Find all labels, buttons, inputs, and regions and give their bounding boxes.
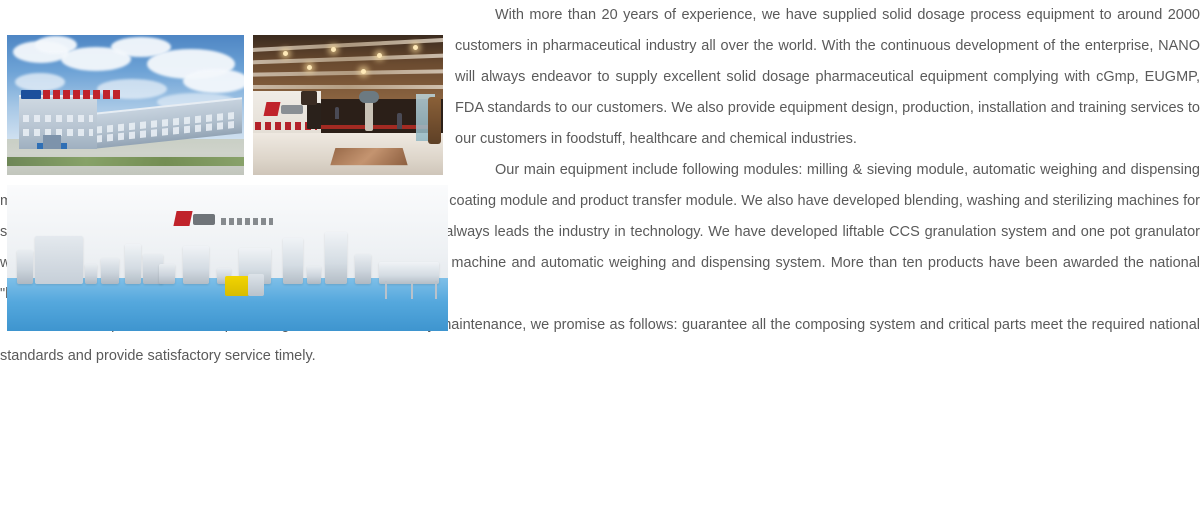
image-gallery: [0, 0, 455, 175]
machine-unit: [35, 236, 83, 284]
factory-main-block: [19, 95, 97, 149]
transfer-cart: [248, 274, 264, 296]
equipment-showroom-photo[interactable]: [7, 185, 448, 331]
entrance-awning: [37, 143, 67, 149]
article-body: With more than 20 years of experience, w…: [0, 0, 1200, 372]
nano-logo-sign: [21, 90, 41, 99]
window-row: [96, 121, 238, 143]
cloud-shape: [183, 69, 244, 93]
nano-logo-mark-icon: [264, 102, 281, 116]
machine-unit: [159, 264, 175, 284]
cloud-shape: [35, 36, 77, 54]
factory-wing: [92, 97, 242, 149]
ceiling-spotlight: [413, 45, 418, 50]
visitor-figure: [335, 107, 339, 119]
machine-unit: [325, 232, 347, 284]
cloud-shape: [147, 49, 235, 79]
grass-line: [7, 157, 244, 166]
machine-unit: [307, 266, 321, 284]
showroom-wall: [7, 185, 448, 281]
top-spacer: [0, 0, 455, 35]
ceiling-spotlight: [331, 47, 336, 52]
equipment-leg: [435, 281, 437, 299]
cloud-shape: [157, 93, 237, 111]
machine-unit: [239, 248, 271, 284]
nano-wordmark: [281, 105, 303, 114]
ground-strip: [7, 139, 244, 175]
cloud-shape: [97, 79, 167, 99]
ceiling-spotlight: [377, 53, 382, 58]
showroom-lobby-photo[interactable]: [253, 35, 443, 175]
top-image-row: [0, 35, 455, 175]
cloud-shape: [111, 37, 171, 57]
wooden-ceiling: [253, 35, 443, 99]
page-root: With more than 20 years of experience, w…: [0, 0, 1200, 522]
display-pedestal: [307, 103, 321, 129]
display-stand: [365, 101, 373, 131]
machine-unit: [355, 254, 371, 284]
cloud-shape: [61, 47, 131, 71]
machine-unit: [217, 268, 231, 284]
entrance-door: [43, 135, 61, 149]
display-exhibit: [359, 91, 379, 103]
wall-slogan-text: [221, 218, 273, 225]
agv-robot: [225, 276, 249, 296]
ceiling-beam: [253, 69, 443, 77]
equipment-leg: [411, 281, 413, 299]
ceiling-spotlight: [283, 51, 288, 56]
machine-unit: [85, 264, 97, 284]
display-exhibit: [301, 91, 317, 105]
machine-unit: [379, 262, 439, 284]
equipment-leg: [385, 281, 387, 299]
red-carpet-strip: [306, 125, 431, 129]
cloud-shape: [13, 41, 69, 63]
blue-epoxy-floor: [7, 278, 448, 331]
nano-logo-mark-icon: [173, 211, 192, 226]
floor-rug: [330, 148, 408, 165]
machine-unit: [183, 246, 209, 284]
nano-wordmark: [193, 214, 215, 225]
machine-unit: [143, 254, 163, 284]
sky-background: [7, 35, 244, 139]
chinese-name-sign: [43, 90, 121, 99]
window-row: [96, 111, 238, 133]
ceiling-beam: [253, 85, 443, 89]
lobby-floor: [253, 133, 443, 175]
window-row: [23, 115, 93, 122]
ceiling-beam: [253, 53, 443, 65]
chinese-company-name: [255, 122, 317, 130]
machine-unit: [17, 250, 33, 284]
ceiling-spotlight: [307, 65, 312, 70]
machine-unit: [125, 244, 141, 284]
machine-unit: [283, 238, 303, 284]
machine-unit: [101, 258, 119, 284]
visitor-figure: [397, 113, 402, 129]
glass-door: [416, 94, 435, 142]
factory-building-photo[interactable]: [7, 35, 244, 175]
ceiling-spotlight: [361, 69, 366, 74]
lobby-left-wall: [253, 91, 321, 141]
window-row: [23, 129, 93, 136]
wood-sculpture: [428, 97, 441, 145]
cloud-shape: [15, 73, 65, 91]
ceiling-beam: [253, 37, 443, 53]
